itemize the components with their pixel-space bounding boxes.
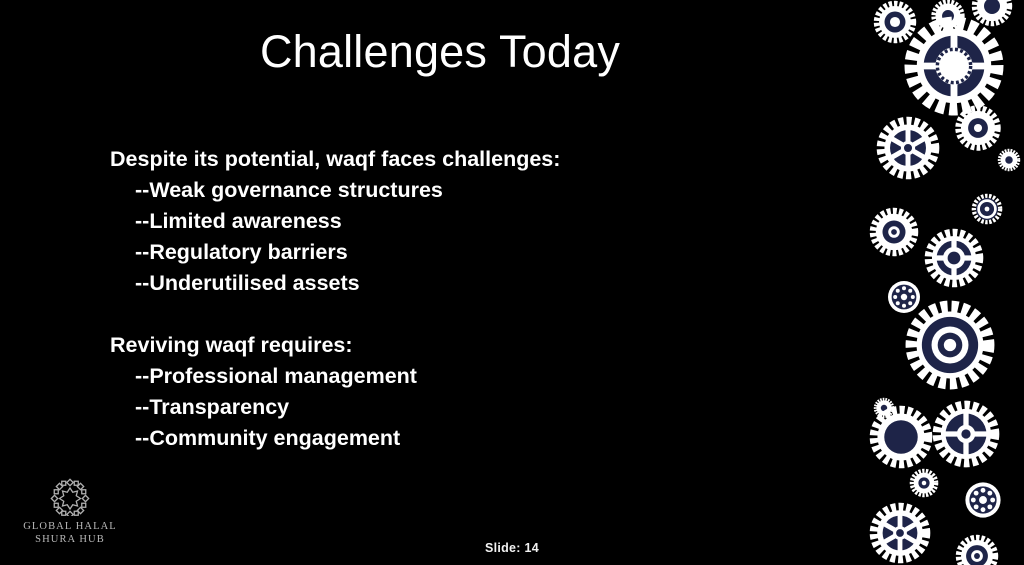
logo-text-line-1: GLOBAL HALAL bbox=[18, 520, 122, 533]
bullet-item: --Regulatory barriers bbox=[110, 237, 750, 268]
bullet-item: --Professional management bbox=[110, 361, 750, 392]
content-block: Reviving waqf requires: --Professional m… bbox=[110, 330, 750, 454]
gear-icon bbox=[975, 0, 1009, 23]
logo: GLOBAL HALAL SHURA HUB bbox=[18, 476, 122, 546]
content-block: Despite its potential, waqf faces challe… bbox=[110, 144, 750, 299]
gear-icon bbox=[874, 410, 927, 463]
bullet-item: --Transparency bbox=[110, 392, 750, 423]
gear-icon bbox=[974, 196, 1000, 222]
gear-icon bbox=[959, 109, 998, 148]
gear-icon bbox=[938, 406, 995, 463]
gear-icon bbox=[929, 233, 979, 283]
gear-icon bbox=[965, 482, 1000, 517]
gear-icon bbox=[875, 399, 892, 416]
bullet-item: --Community engagement bbox=[110, 423, 750, 454]
bullet-item: --Underutilised assets bbox=[110, 268, 750, 299]
gear-icon bbox=[934, 2, 962, 30]
block-heading: Despite its potential, waqf faces challe… bbox=[110, 144, 750, 175]
slide-number: Slide: 14 bbox=[0, 541, 1024, 555]
bullet-item: --Limited awareness bbox=[110, 206, 750, 237]
gear-icon bbox=[912, 471, 936, 495]
gear-icon bbox=[881, 121, 934, 174]
bullet-item: --Weak governance structures bbox=[110, 175, 750, 206]
page-title: Challenges Today bbox=[0, 28, 880, 75]
logo-text-line-2: SHURA HUB bbox=[18, 533, 122, 546]
gear-icon bbox=[912, 307, 988, 383]
gear-icon bbox=[873, 211, 914, 252]
slide-body: Despite its potential, waqf faces challe… bbox=[110, 144, 750, 454]
star-rosette-icon bbox=[44, 476, 96, 516]
gear-icon bbox=[877, 4, 913, 40]
gear-icon bbox=[888, 281, 920, 313]
gears-decoration-graphic bbox=[854, 0, 1024, 565]
block-heading: Reviving waqf requires: bbox=[110, 330, 750, 361]
gear-icon bbox=[1000, 151, 1019, 170]
gear-icon bbox=[912, 24, 996, 108]
slide-canvas: Challenges Today Despite its potential, … bbox=[0, 0, 1024, 565]
